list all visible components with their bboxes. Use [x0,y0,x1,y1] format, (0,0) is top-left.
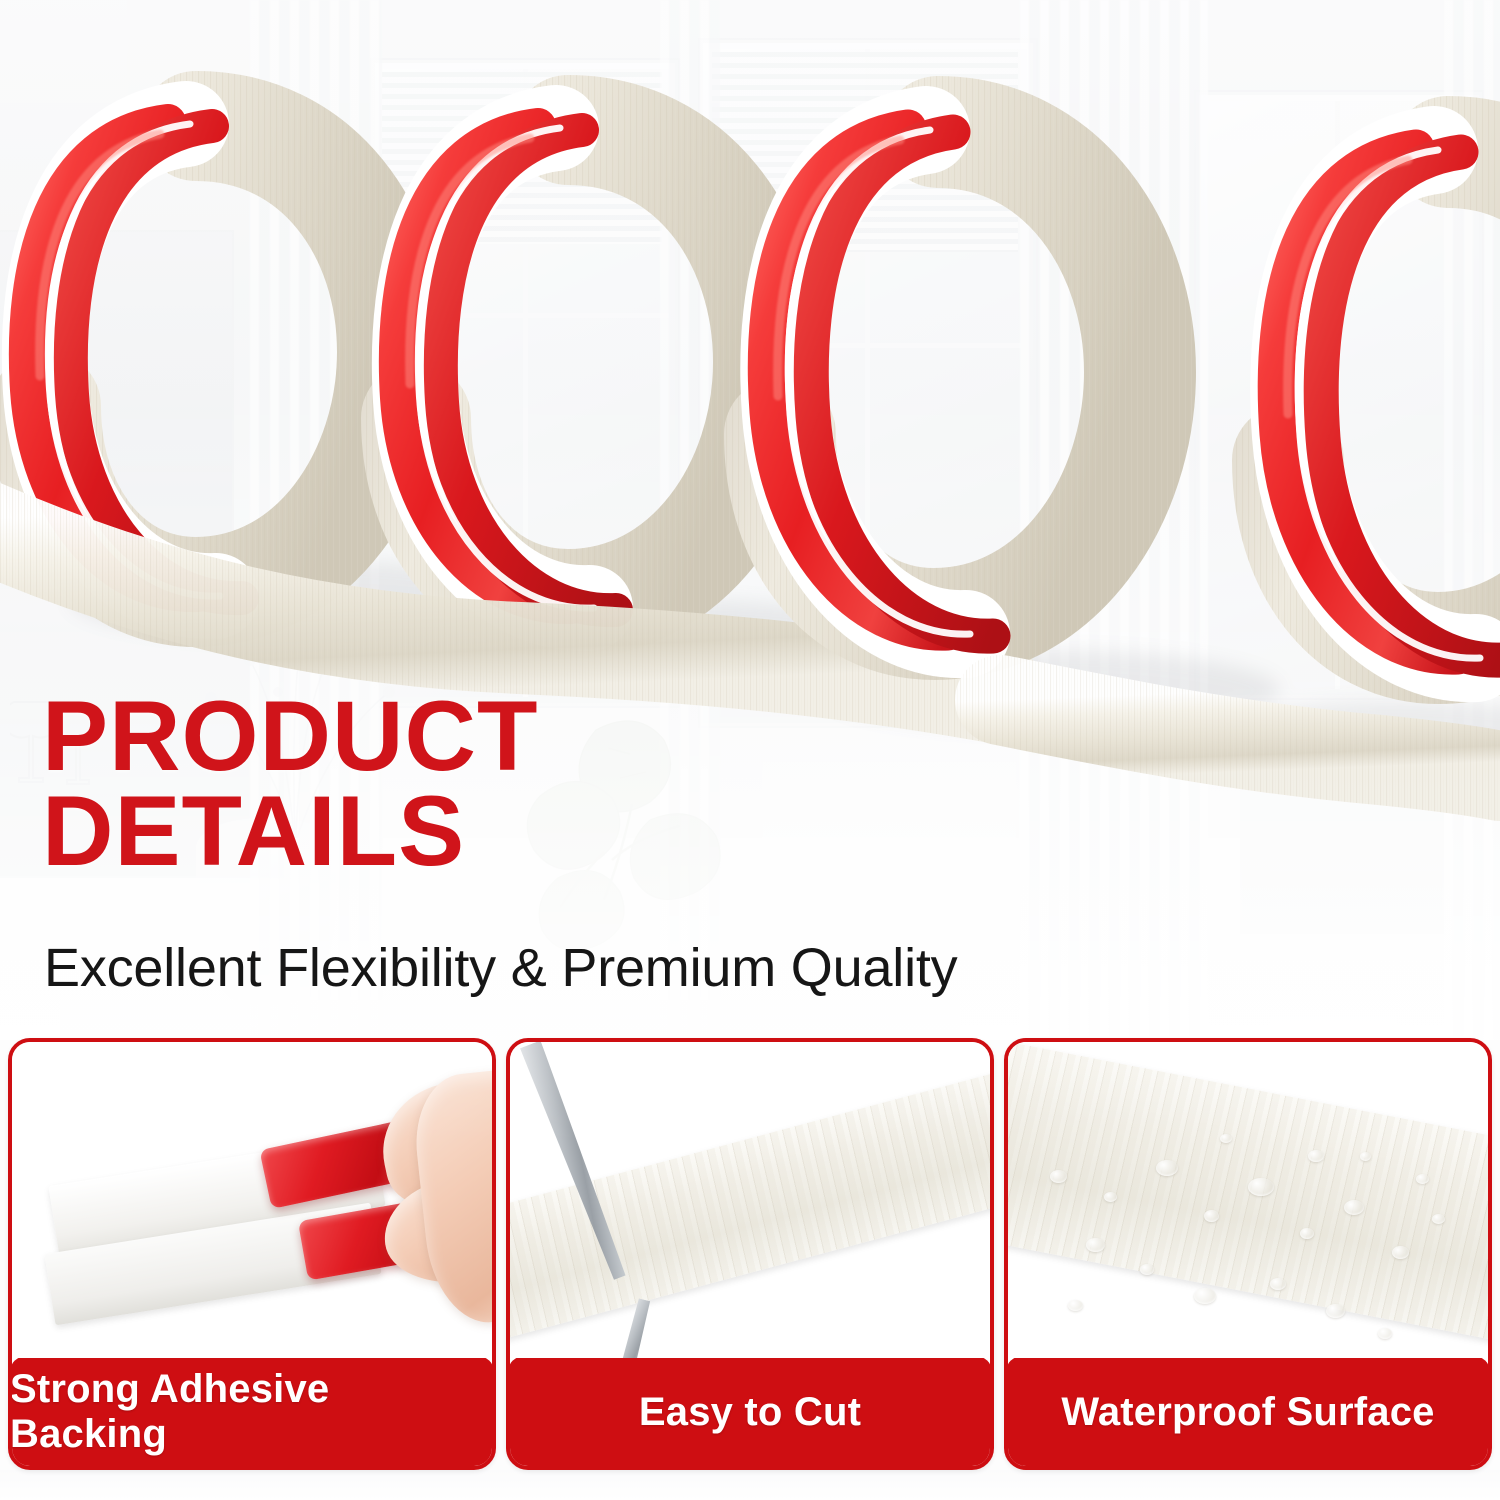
feature-image-cut [510,1042,990,1358]
feature-card-waterproof[interactable]: Waterproof Surface [1004,1038,1492,1470]
wood-grain-texture [510,1065,990,1341]
coil-loop-3 [766,128,1140,636]
page-subtitle: Excellent Flexibility & Premium Quality [44,940,957,997]
feature-caption-bar-cut: Easy to Cut [508,1356,992,1468]
feature-caption-bar-adhesive: Strong Adhesive Backing [10,1356,494,1468]
product-detail-page: PRODUCT DETAILS Excellent Flexibility & … [0,0,1500,1500]
coil-loop-2 [397,126,768,610]
page-title-line-1: PRODUCT [42,688,539,783]
feature-caption-text-adhesive: Strong Adhesive Backing [10,1367,494,1457]
hero-section: PRODUCT DETAILS Excellent Flexibility & … [0,0,1500,1040]
feature-caption-text-cut: Easy to Cut [639,1390,861,1435]
feature-caption-bar-waterproof: Waterproof Surface [1006,1356,1490,1468]
feature-image-adhesive [12,1042,492,1358]
coil-loop-4 [1276,148,1500,660]
trim-strip-being-cut [510,1065,990,1341]
page-title-line-2: DETAILS [42,783,539,878]
feature-image-waterproof [1008,1042,1488,1358]
page-title: PRODUCT DETAILS [42,688,539,878]
feature-card-cut[interactable]: Easy to Cut [506,1038,994,1470]
feature-card-row: Strong Adhesive Backing Easy to Cut [0,1038,1500,1470]
feature-caption-text-waterproof: Waterproof Surface [1061,1390,1434,1435]
feature-card-adhesive[interactable]: Strong Adhesive Backing [8,1038,496,1470]
footer-whitespace [0,1470,1500,1500]
